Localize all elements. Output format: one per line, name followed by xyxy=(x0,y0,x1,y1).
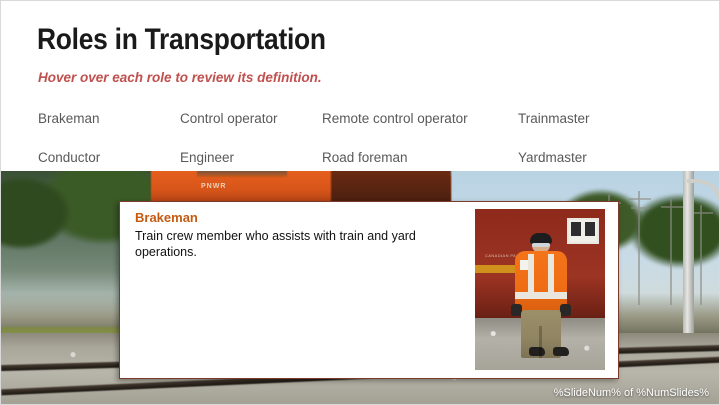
role-item-conductor[interactable]: Conductor xyxy=(38,150,180,165)
worker-boot-right xyxy=(553,347,569,356)
slide-number: %SlideNum% of %NumSlides% xyxy=(554,387,709,399)
slide-header: Roles in Transportation Hover over each … xyxy=(1,1,720,171)
worker-glove-right xyxy=(560,304,571,316)
locomotive-cab xyxy=(197,171,287,177)
role-item-engineer[interactable]: Engineer xyxy=(180,150,322,165)
worker-pants xyxy=(521,310,561,358)
slide-subtitle: Hover over each role to review its defin… xyxy=(38,70,322,85)
role-item-yardmaster[interactable]: Yardmaster xyxy=(518,150,678,165)
page-title: Roles in Transportation xyxy=(37,23,326,57)
slide: Roles in Transportation Hover over each … xyxy=(0,0,720,405)
worker-badge xyxy=(520,260,528,270)
jacket-stripe-horizontal xyxy=(515,292,567,299)
definition-card-photo: CANADIAN PACIFIC xyxy=(475,209,605,370)
roles-grid: Brakeman Control operator Remote control… xyxy=(38,99,678,177)
role-item-trainmaster[interactable]: Trainmaster xyxy=(518,111,678,126)
definition-card-heading: Brakeman xyxy=(135,210,198,225)
definition-card-body: Train crew member who assists with train… xyxy=(135,228,465,260)
worker-safety-glasses xyxy=(532,243,550,247)
role-item-remote-control-operator[interactable]: Remote control operator xyxy=(322,111,518,126)
role-item-control-operator[interactable]: Control operator xyxy=(180,111,322,126)
role-item-brakeman[interactable]: Brakeman xyxy=(38,111,180,126)
locomotive-marking: PNWR xyxy=(201,183,226,190)
definition-card: Brakeman Train crew member who assists w… xyxy=(119,201,619,379)
worker-boot-left xyxy=(529,347,545,356)
photo-locomotive-window xyxy=(567,218,599,244)
role-item-road-foreman[interactable]: Road foreman xyxy=(322,150,518,165)
photo-worker xyxy=(513,236,569,368)
